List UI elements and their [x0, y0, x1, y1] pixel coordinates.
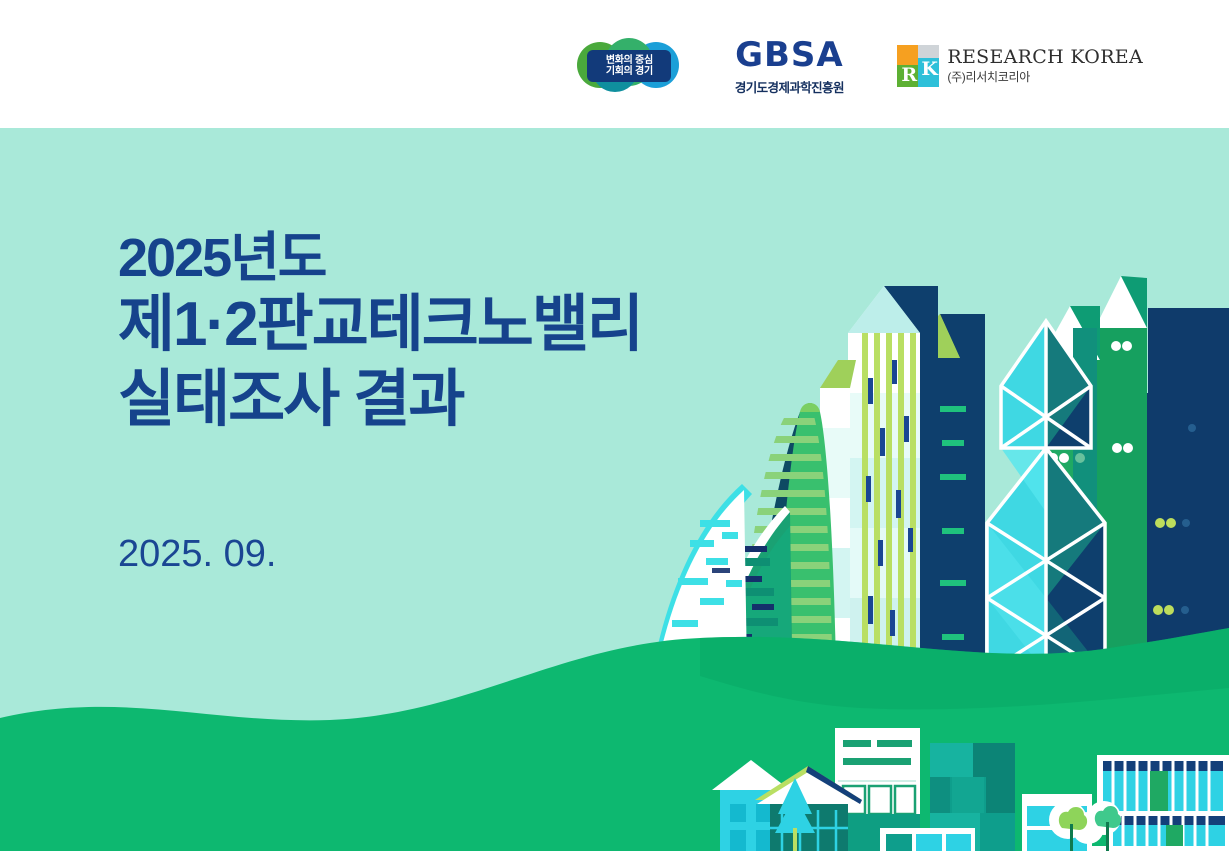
- research-korea-mark-icon: R K: [897, 45, 939, 87]
- research-korea-logo: R K RESEARCH KOREA (주)리서치코리아: [897, 38, 1143, 94]
- gyeonggi-slogan-plate: 변화의 중심 기회의 경기: [587, 50, 671, 82]
- rk-word-research: RESEARCH: [947, 46, 1064, 68]
- title-line-1: 2025년도: [118, 228, 642, 288]
- gyeonggi-slogan-line2: 기회의 경기: [606, 66, 653, 77]
- rk-square-grey: [918, 45, 939, 59]
- rk-letter-r: R: [901, 66, 917, 85]
- gyeonggi-slogan-line1: 변화의 중심: [606, 55, 653, 66]
- title-line-2: 제1·2판교테크노밸리: [118, 288, 642, 362]
- header-band: 변화의 중심 기회의 경기 GBSA 경기도경제과학진흥원 R K: [0, 0, 1229, 128]
- gbsa-logo: GBSA 경기도경제과학진흥원: [727, 38, 851, 94]
- gbsa-subtitle: 경기도경제과학진흥원: [727, 77, 851, 96]
- research-korea-subtitle: (주)리서치코리아: [947, 71, 1143, 85]
- gyeonggi-province-logo: 변화의 중심 기회의 경기: [577, 38, 681, 92]
- cover-date: 2025. 09.: [118, 533, 276, 576]
- title-line-3: 실태조사 결과: [118, 363, 642, 437]
- research-korea-wordmark: RESEARCH KOREA: [947, 47, 1143, 69]
- gbsa-wordmark: GBSA: [727, 38, 851, 74]
- research-korea-text: RESEARCH KOREA (주)리서치코리아: [947, 47, 1143, 85]
- cover-poster: 2025년도 제1·2판교테크노밸리 실태조사 결과 2025. 09.: [0, 128, 1229, 851]
- rk-letter-k: K: [921, 60, 938, 79]
- cover-title-block: 2025년도 제1·2판교테크노밸리 실태조사 결과: [118, 228, 642, 437]
- rk-word-korea: KOREA: [1070, 46, 1143, 68]
- report-cover-page: 변화의 중심 기회의 경기 GBSA 경기도경제과학진흥원 R K: [0, 0, 1229, 851]
- logo-row: 변화의 중심 기회의 경기 GBSA 경기도경제과학진흥원 R K: [577, 38, 1143, 94]
